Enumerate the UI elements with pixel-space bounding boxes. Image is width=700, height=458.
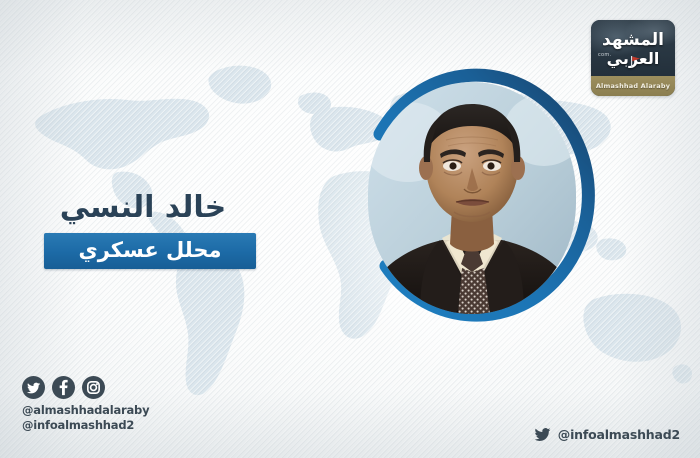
- handle-secondary[interactable]: @infoalmashhad2: [22, 418, 149, 433]
- guest-name-block: خالد النسي محلل عسكري: [0, 192, 300, 269]
- social-icon-row: [22, 376, 149, 399]
- social-links-left: @almashhadalaraby @infoalmashhad2: [22, 376, 149, 433]
- facebook-icon[interactable]: [52, 376, 75, 399]
- instagram-icon[interactable]: [82, 376, 105, 399]
- logo-title-line-1: المشهد: [591, 32, 675, 49]
- twitter-icon[interactable]: [533, 425, 552, 444]
- social-handles: @almashhadalaraby @infoalmashhad2: [22, 403, 149, 433]
- handle-primary[interactable]: @almashhadalaraby: [22, 403, 149, 418]
- guest-portrait: [350, 76, 594, 328]
- logo-com-mark: com.: [598, 52, 611, 58]
- guest-name: خالد النسي: [0, 192, 300, 224]
- guest-card: المشهد العربي com. Almashhad Alaraby: [0, 0, 700, 458]
- guest-photo: [368, 82, 576, 314]
- logo-latin-name: Almashhad Alaraby: [591, 76, 675, 96]
- social-links-right[interactable]: @infoalmashhad2: [533, 425, 680, 444]
- twitter-icon[interactable]: [22, 376, 45, 399]
- handle-twitter-right[interactable]: @infoalmashhad2: [558, 427, 680, 442]
- guest-role-badge: محلل عسكري: [44, 233, 255, 269]
- channel-logo: المشهد العربي com. Almashhad Alaraby: [591, 20, 675, 96]
- logo-flag-icon: [631, 53, 640, 65]
